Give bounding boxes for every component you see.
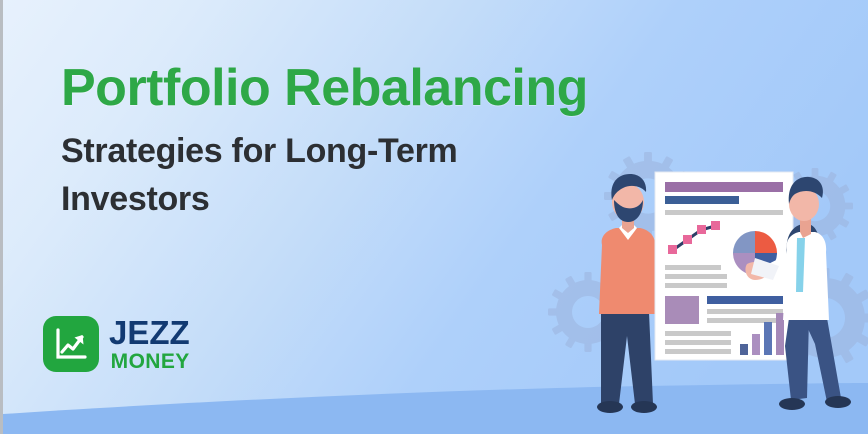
doc-text-line — [665, 274, 727, 279]
doc-text-line — [665, 340, 731, 345]
doc-image-block — [665, 296, 699, 324]
chart-growth-icon — [43, 316, 99, 372]
doc-text-line — [665, 349, 731, 354]
brand-wordmark: JEZZ MONEY — [109, 316, 190, 372]
brand-logo[interactable]: JEZZ MONEY — [43, 316, 190, 372]
doc-text-line — [665, 283, 727, 288]
blog-header-banner: Portfolio Rebalancing Strategies for Lon… — [0, 0, 868, 434]
doc-accent-bar — [707, 296, 783, 304]
brand-name-primary: JEZZ — [109, 316, 190, 349]
doc-text-line — [665, 331, 731, 336]
headline-block: Portfolio Rebalancing Strategies for Lon… — [61, 62, 731, 224]
brand-name-secondary: MONEY — [109, 351, 190, 372]
page-subtitle: Strategies for Long-Term Investors — [61, 127, 601, 224]
page-title: Portfolio Rebalancing — [61, 62, 731, 115]
doc-text-line — [665, 265, 721, 270]
doc-text-line — [707, 309, 783, 314]
